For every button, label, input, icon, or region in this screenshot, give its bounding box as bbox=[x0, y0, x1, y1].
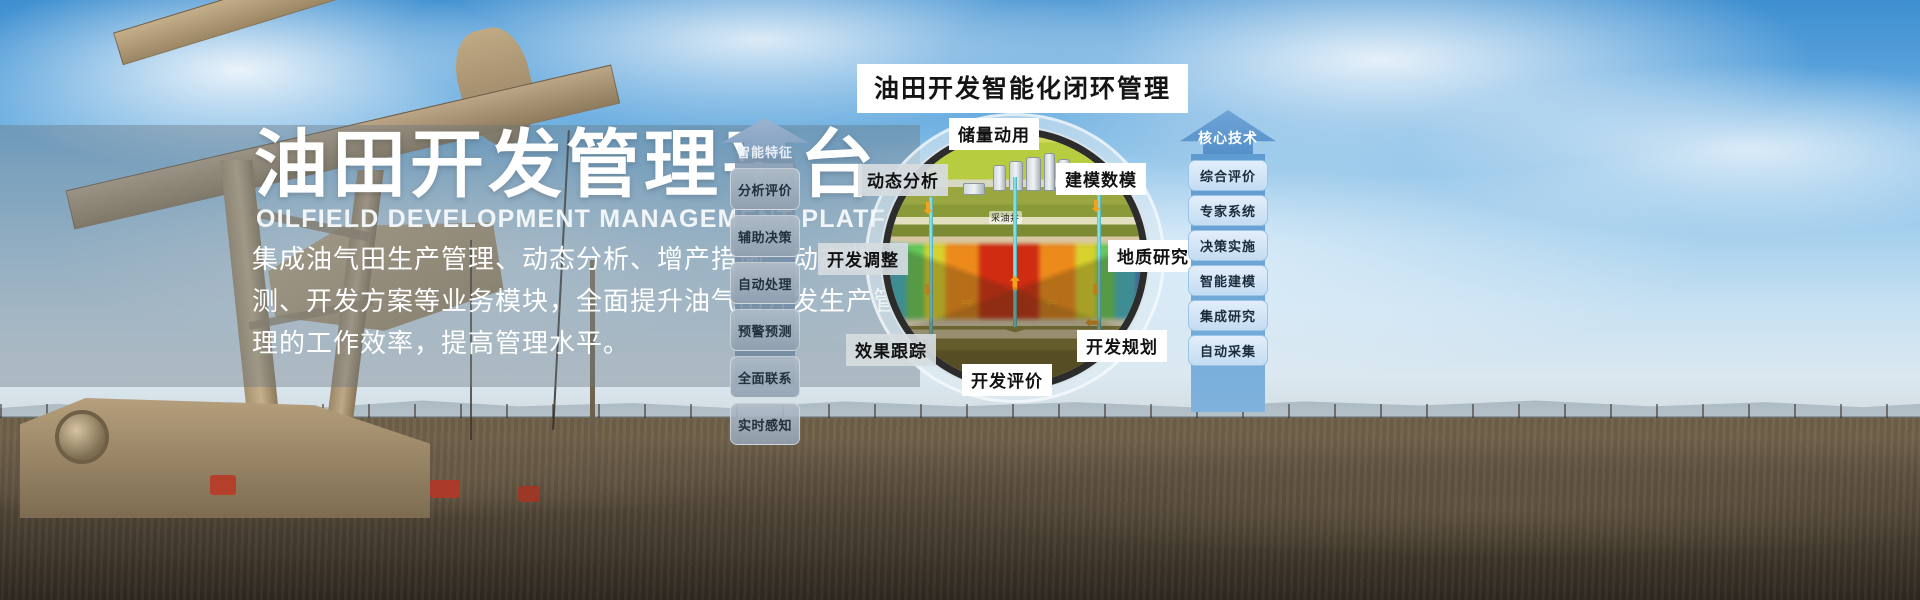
feature-item[interactable]: 全面联系 bbox=[730, 356, 800, 398]
feature-item[interactable]: 实时感知 bbox=[730, 403, 800, 445]
equipment-marker-red-3 bbox=[518, 486, 540, 502]
equipment-marker-red-2 bbox=[430, 480, 460, 498]
core-technology-column: 核心技术 综合评价 专家系统 决策实施 智能建模 集成研究 自动采集 bbox=[1180, 110, 1276, 410]
flow-arrow-left-icon: ⇦ bbox=[1045, 293, 1058, 311]
feature-item[interactable]: 分析评价 bbox=[730, 168, 800, 210]
tech-item[interactable]: 专家系统 bbox=[1188, 195, 1268, 226]
callout-evaluation: 开发评价 bbox=[962, 364, 1052, 396]
flow-arrow-down-icon: ⬇ bbox=[921, 281, 934, 299]
callout-modeling: 建模数模 bbox=[1056, 163, 1146, 195]
intelligent-feature-column: 智能特征 分析评价 辅助决策 自动处理 预警预测 全面联系 实时感知 bbox=[722, 118, 808, 380]
tech-item[interactable]: 决策实施 bbox=[1188, 230, 1268, 261]
tech-item[interactable]: 集成研究 bbox=[1188, 300, 1268, 331]
flow-arrow-right-icon: ⇨ bbox=[961, 293, 974, 311]
injection-well-left bbox=[929, 197, 933, 343]
tech-item[interactable]: 自动采集 bbox=[1188, 335, 1268, 366]
surface-pad bbox=[963, 183, 985, 195]
flow-arrow-up-icon: ⬆ bbox=[1007, 273, 1023, 296]
feature-item[interactable]: 预警预测 bbox=[730, 309, 800, 351]
callout-planning: 开发规划 bbox=[1077, 330, 1167, 362]
feature-item[interactable]: 自动处理 bbox=[730, 262, 800, 304]
surface-tank bbox=[1044, 153, 1055, 191]
inner-well-label: 采油井 bbox=[989, 211, 1022, 224]
surface-tank bbox=[1026, 157, 1041, 191]
tech-item[interactable]: 智能建模 bbox=[1188, 265, 1268, 296]
tech-column-title: 核心技术 bbox=[1180, 128, 1276, 148]
callout-tracking: 效果跟踪 bbox=[846, 334, 936, 366]
feature-item[interactable]: 辅助决策 bbox=[730, 215, 800, 257]
equipment-marker-red-1 bbox=[210, 475, 236, 495]
flow-arrow-down-icon: ⬇ bbox=[921, 199, 935, 219]
feature-column-title: 智能特征 bbox=[722, 142, 808, 161]
flow-arrow-down-icon: ⬇ bbox=[1089, 197, 1103, 217]
surface-tank bbox=[993, 165, 1006, 191]
production-well-center bbox=[1013, 177, 1017, 327]
tech-item[interactable]: 综合评价 bbox=[1188, 160, 1268, 191]
tech-item-list: 综合评价 专家系统 决策实施 智能建模 集成研究 自动采集 bbox=[1188, 160, 1268, 370]
injection-well-right bbox=[1097, 195, 1101, 343]
callout-storage: 储量动用 bbox=[949, 118, 1039, 150]
flow-arrow-down-icon: ⬇ bbox=[1089, 281, 1102, 299]
hero-banner: 油田开发管理平台 OILFIELD DEVELOPMENT MANAGEMENT… bbox=[0, 0, 1920, 600]
surface-tank bbox=[1009, 161, 1023, 191]
page-subtitle-en: OILFIELD DEVELOPMENT MANAGEMENT PLATFORM bbox=[256, 205, 948, 234]
pumpjack-crank-wheel bbox=[55, 410, 109, 464]
feature-item-list: 分析评价 辅助决策 自动处理 预警预测 全面联系 实时感知 bbox=[730, 168, 800, 450]
callout-dynamic-analysis: 动态分析 bbox=[858, 164, 948, 196]
callout-adjustment: 开发调整 bbox=[818, 243, 908, 275]
